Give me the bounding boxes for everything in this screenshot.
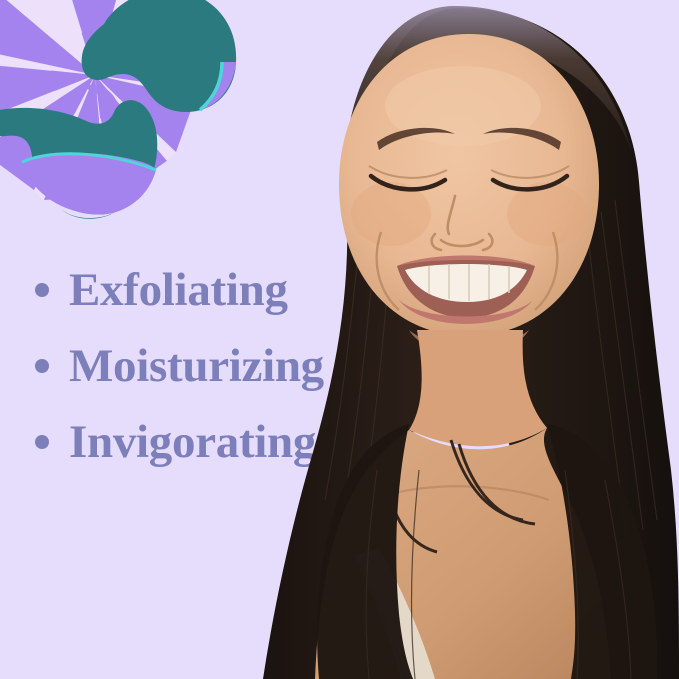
tank-top-strap <box>355 548 435 679</box>
benefit-item-invigorating: Invigorating <box>0 404 420 480</box>
starburst-petals <box>0 0 210 200</box>
eyebrows <box>377 128 561 150</box>
teal-blob-upper <box>82 0 236 112</box>
benefits-list: Exfoliating Moisturizing Invigorating <box>0 252 420 480</box>
bullet-dot-icon <box>35 435 49 449</box>
petal-gaps <box>0 0 212 201</box>
benefit-item-exfoliating: Exfoliating <box>0 252 420 328</box>
chin-shadow <box>409 330 529 354</box>
promo-image-canvas: Exfoliating Moisturizing Invigorating <box>0 0 679 679</box>
benefit-label: Invigorating <box>69 419 316 466</box>
bullet-dot-icon <box>35 359 49 373</box>
eyes-closed <box>371 176 567 189</box>
nose <box>432 196 493 250</box>
benefit-label: Exfoliating <box>69 267 288 314</box>
benefit-item-moisturizing: Moisturizing <box>0 328 420 404</box>
teal-blob-lower <box>0 100 157 219</box>
abstract-floral-corner-graphic <box>0 0 250 232</box>
bullet-dot-icon <box>35 283 49 297</box>
petal-sliver <box>84 85 116 100</box>
benefit-label: Moisturizing <box>69 343 324 390</box>
